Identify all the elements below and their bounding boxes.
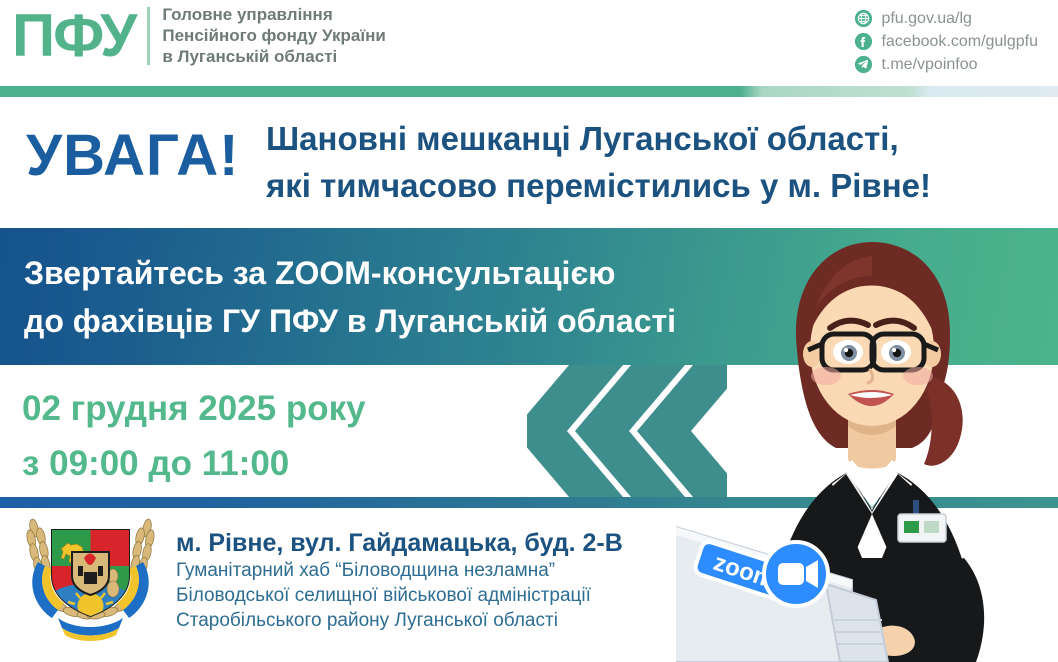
- schedule-text: 02 грудня 2025 року з 09:00 до 11:00: [22, 381, 366, 491]
- globe-icon: [855, 10, 872, 27]
- schedule-time: з 09:00 до 11:00: [22, 436, 366, 491]
- social-link-website[interactable]: pfu.gov.ua/lg: [855, 7, 1038, 30]
- social-link-facebook[interactable]: facebook.com/gulgpfu: [855, 30, 1038, 53]
- announcement-line-2: до фахівців ГУ ПФУ в Луганській області: [24, 297, 676, 345]
- org-line-2: Пенсійного фонду України: [162, 25, 385, 46]
- venue-street-address: м. Рівне, вул. Гайдамацька, буд. 2-В: [176, 528, 623, 558]
- venue-line-2: Біловодської селищної військової адмініс…: [176, 583, 623, 608]
- social-link-telegram[interactable]: t.me/vpoinfoo: [855, 53, 1038, 76]
- website-url: pfu.gov.ua/lg: [881, 10, 971, 28]
- organization-logo: ПФУ Головне управління Пенсійного фонду …: [12, 4, 386, 67]
- org-line-1: Головне управління: [162, 4, 385, 25]
- facebook-icon: [855, 33, 872, 50]
- facebook-url: facebook.com/gulgpfu: [881, 33, 1038, 51]
- org-line-3: в Луганській області: [162, 46, 385, 67]
- page-header: ПФУ Головне управління Пенсійного фонду …: [0, 0, 1058, 84]
- headline-text: Шановні мешканці Луганської області, які…: [266, 115, 931, 209]
- header-accent-bar: [0, 86, 1058, 97]
- consultant-illustration: zoom: [676, 228, 1058, 662]
- telegram-url: t.me/vpoinfoo: [881, 56, 977, 74]
- schedule-date: 02 грудня 2025 року: [22, 381, 366, 436]
- social-links: pfu.gov.ua/lg facebook.com/gulgpfu: [855, 7, 1038, 76]
- attention-word: УВАГА!: [26, 127, 239, 185]
- pfu-logo-icon: ПФУ: [12, 6, 147, 66]
- coat-of-arms-icon: [18, 514, 163, 654]
- telegram-icon: [855, 56, 872, 73]
- announcement-text: Звертайтесь за ZOOM-консультацією до фах…: [24, 249, 676, 345]
- venue-line-1: Гуманітарний хаб “Біловодщина незламна”: [176, 558, 623, 583]
- logo-divider: [147, 7, 150, 65]
- attention-section: УВАГА! Шановні мешканці Луганської облас…: [0, 97, 1058, 228]
- poster-canvas: ПФУ Головне управління Пенсійного фонду …: [0, 0, 1058, 662]
- organization-name: Головне управління Пенсійного фонду Укра…: [162, 4, 385, 67]
- venue-address: м. Рівне, вул. Гайдамацька, буд. 2-В Гум…: [176, 528, 623, 633]
- announcement-line-1: Звертайтесь за ZOOM-консультацією: [24, 249, 676, 297]
- headline-line-2: які тимчасово перемістились у м. Рівне!: [266, 162, 931, 209]
- headline-line-1: Шановні мешканці Луганської області,: [266, 115, 931, 162]
- venue-line-3: Старобільського району Луганської област…: [176, 608, 623, 633]
